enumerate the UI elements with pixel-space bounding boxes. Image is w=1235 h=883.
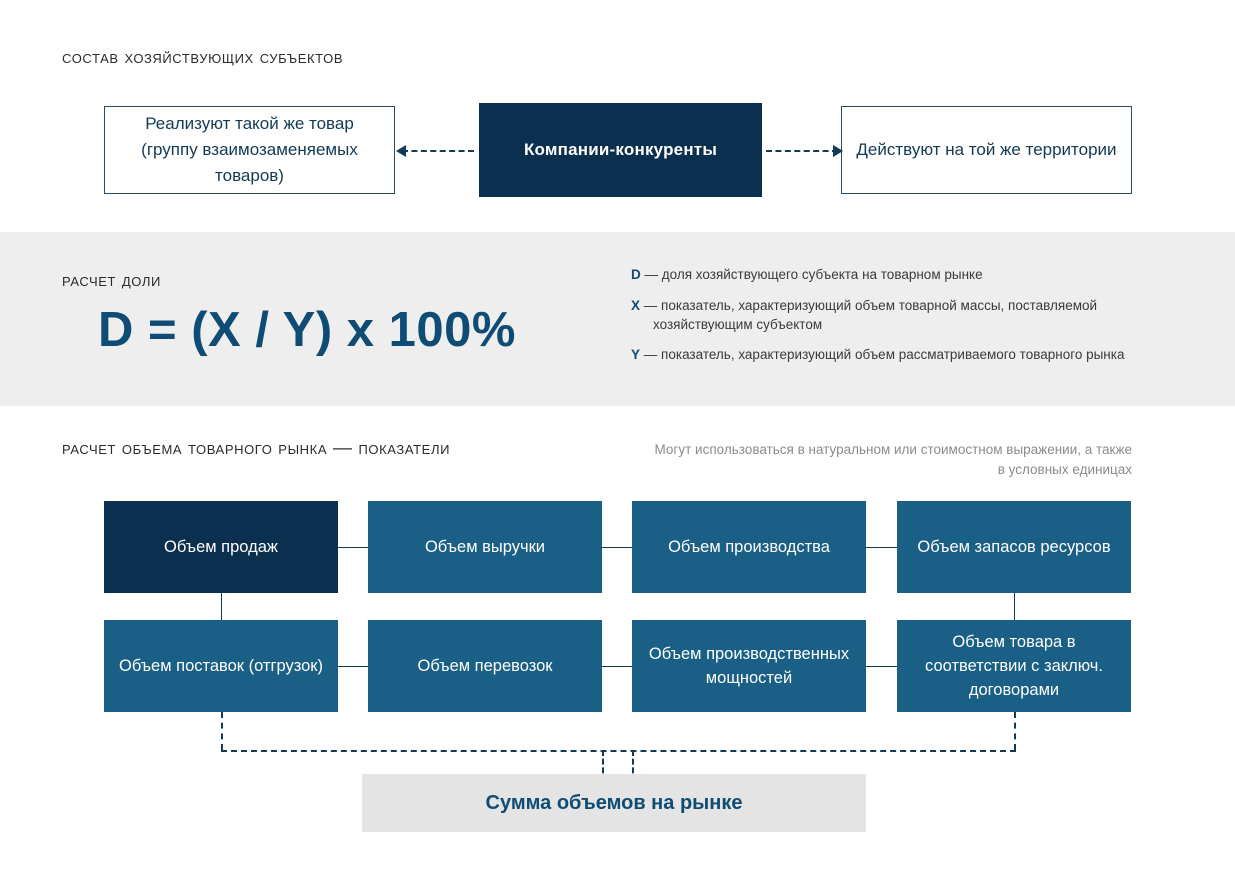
connector-col1-vertical (221, 593, 222, 620)
indicator-box-capacity-volume: Объем производственных мощностей (632, 620, 866, 712)
composition-section: Состав хозяйствующих субъектов Реализуют… (0, 0, 1235, 232)
indicator-box-supply-volume: Объем поставок (отгрузок) (104, 620, 338, 712)
legend-item-x: X — показатель, характеризующий объем то… (631, 296, 1191, 334)
arrow-left-icon (396, 145, 406, 157)
dashed-connector-right (766, 150, 838, 152)
legend-item-d: D — доля хозяйствующего субъекта на това… (631, 265, 1191, 284)
arrow-right-icon (833, 145, 843, 157)
legend-description-x: показатель, характеризующий объем товарн… (661, 298, 1097, 313)
legend-dash-x: — (644, 298, 658, 313)
indicators-note: Могут использоваться в натуральном или с… (652, 440, 1132, 480)
share-title: Расчет доли (62, 270, 161, 292)
connector-col4-vertical (1014, 593, 1015, 620)
indicators-title: Расчет объема товарного рынка — показате… (62, 438, 450, 460)
share-formula: D = (X / Y) x 100% (98, 302, 516, 358)
dashed-collector-bar (221, 750, 1016, 752)
legend-item-y: Y — показатель, характеризующий объем ра… (631, 345, 1191, 364)
indicator-box-contract-volume: Объем товара в соответствии с заключ. до… (897, 620, 1131, 712)
indicator-box-revenue-volume: Объем выручки (368, 501, 602, 593)
legend-description-x-continued: хозяйствующим субъектом (631, 315, 1191, 334)
share-calculation-section: Расчет доли D = (X / Y) x 100% D — доля … (0, 232, 1235, 406)
box-same-territory: Действуют на той же территории (841, 106, 1132, 194)
indicators-section: Расчет объема товарного рынка — показате… (0, 406, 1235, 883)
connector-row1-2-3 (866, 547, 897, 548)
connector-row1-1-2 (602, 547, 632, 548)
legend-symbol-y: Y (631, 347, 640, 362)
indicator-box-sales-volume: Объем продаж (104, 501, 338, 593)
connector-row1-0-1 (338, 547, 368, 548)
box-competitors: Компании-конкуренты (479, 103, 762, 197)
legend-description-d: доля хозяйствующего субъекта на товарном… (662, 267, 983, 282)
legend-symbol-x: X (631, 298, 640, 313)
composition-title: Состав хозяйствующих субъектов (62, 47, 343, 69)
dashed-drop-left (221, 712, 223, 750)
connector-row2-1-2 (602, 666, 632, 667)
legend-dash-y: — (644, 347, 658, 362)
sum-box: Сумма объемов на рынке (362, 774, 866, 832)
box-same-goods: Реализуют такой же товар (группу взаимоз… (104, 106, 395, 194)
dashed-connector-left (402, 150, 474, 152)
connector-row2-2-3 (866, 666, 897, 667)
indicator-box-transport-volume: Объем перевозок (368, 620, 602, 712)
legend-description-y: показатель, характеризующий объем рассма… (661, 347, 1124, 362)
indicator-box-resource-stock-volume: Объем запасов ресурсов (897, 501, 1131, 593)
legend-symbol-d: D (631, 267, 641, 282)
dashed-drop-right (1014, 712, 1016, 750)
connector-row2-0-1 (338, 666, 368, 667)
indicator-box-production-volume: Объем производства (632, 501, 866, 593)
legend-dash-d: — (645, 267, 659, 282)
